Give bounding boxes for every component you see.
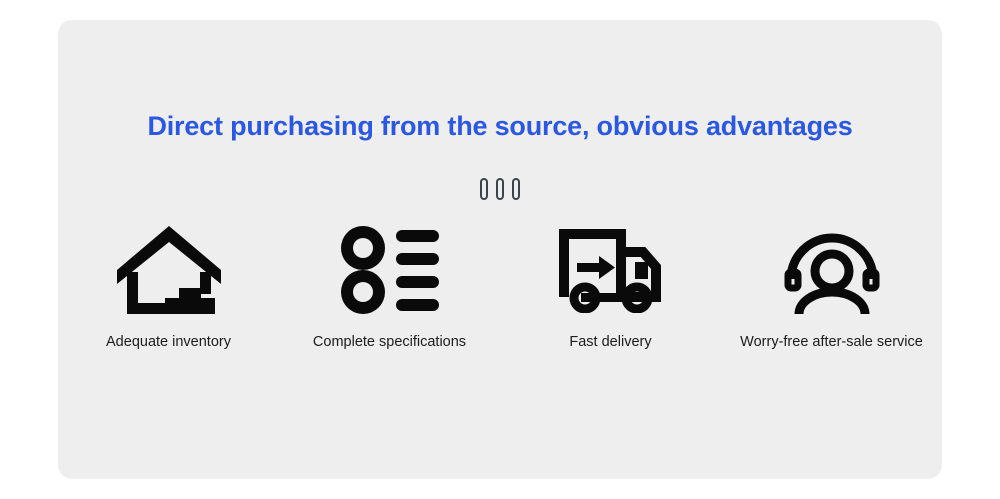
feature-list: Adequate inventory	[58, 220, 942, 350]
divider-ornament	[58, 178, 942, 200]
pill-shape-icon	[512, 178, 520, 200]
page-root: Direct purchasing from the source, obvio…	[0, 0, 1000, 499]
page-title: Direct purchasing from the source, obvio…	[58, 111, 942, 142]
feature-item-service: Worry-free after-sale service	[727, 220, 937, 350]
pill-shape-icon	[496, 178, 504, 200]
warehouse-house-boxes-icon	[117, 220, 221, 320]
feature-item-inventory: Adequate inventory	[64, 220, 274, 350]
feature-label: Adequate inventory	[106, 334, 231, 350]
feature-item-specifications: Complete specifications	[285, 220, 495, 350]
delivery-truck-icon	[559, 220, 663, 320]
specification-list-icon	[341, 220, 439, 320]
customer-service-headset-icon	[783, 220, 881, 320]
feature-label: Complete specifications	[313, 334, 466, 350]
feature-label: Fast delivery	[569, 334, 651, 350]
pill-shape-icon	[480, 178, 488, 200]
feature-label: Worry-free after-sale service	[740, 334, 923, 350]
advantages-panel: Direct purchasing from the source, obvio…	[58, 20, 942, 479]
feature-item-delivery: Fast delivery	[506, 220, 716, 350]
